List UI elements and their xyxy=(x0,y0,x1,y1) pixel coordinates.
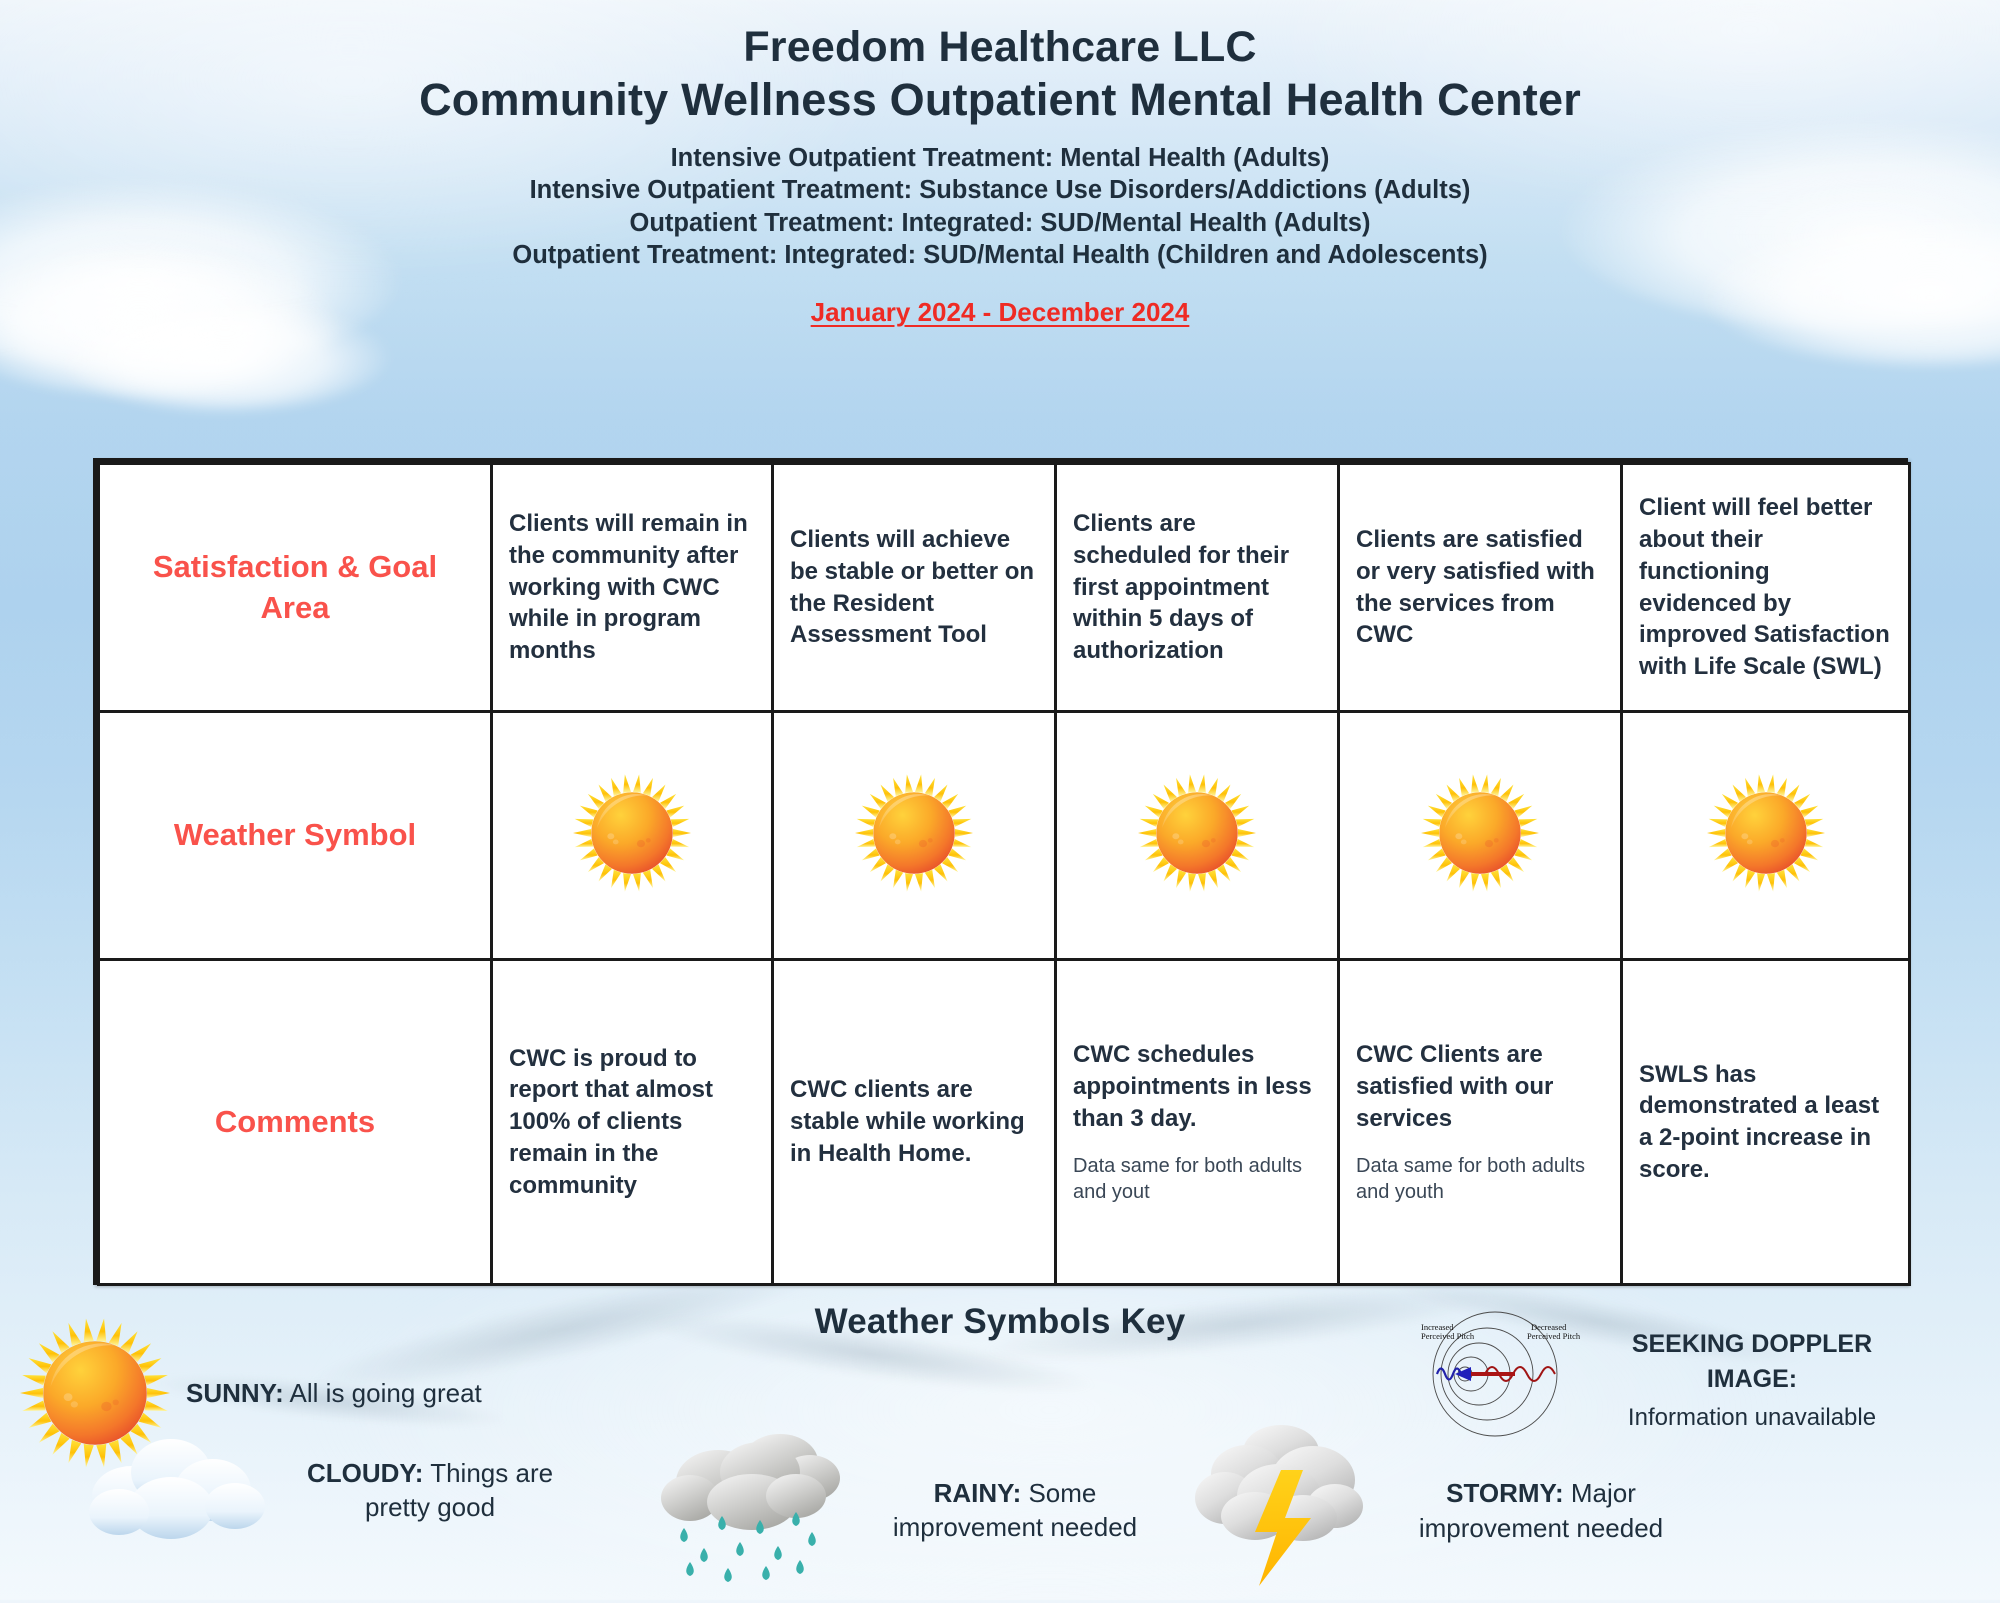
org-name-line1: Freedom Healthcare LLC xyxy=(743,23,1256,71)
sunny-icon xyxy=(1421,774,1539,892)
key-label-text: STORMY: xyxy=(1446,1478,1563,1508)
key-item-rainy: RAINY: Some improvement needed xyxy=(660,1420,1165,1600)
goal-cell-4: Clients are satisfied or very satisfied … xyxy=(1339,464,1622,712)
key-item-cloudy: CLOUDY: Things are pretty good xyxy=(85,1420,580,1560)
sunny-icon xyxy=(1138,774,1256,892)
comment-main: CWC schedules appointments in less than … xyxy=(1073,1041,1312,1131)
row-header-goal-area: Satisfaction & Goal Area xyxy=(99,464,492,712)
comment-cell-3: CWC schedules appointments in less than … xyxy=(1056,960,1339,1285)
comment-cell-1: CWC is proud to report that almost 100% … xyxy=(492,960,773,1285)
comment-sub: Data same for both adults and youth xyxy=(1356,1153,1604,1205)
comment-sub: Data same for both adults and yout xyxy=(1073,1153,1321,1205)
key-label-text: SUNNY: xyxy=(186,1378,284,1408)
symbol-cell-3 xyxy=(1056,712,1339,960)
svg-text:Perceived Pitch: Perceived Pitch xyxy=(1421,1331,1475,1341)
page-header: Freedom Healthcare LLC Community Wellnes… xyxy=(0,0,2000,328)
org-name-line2: Community Wellness Outpatient Mental Hea… xyxy=(0,73,2000,126)
key-desc-text: All is going great xyxy=(290,1378,482,1408)
svg-text:Perceived Pitch: Perceived Pitch xyxy=(1527,1331,1581,1341)
service-line: Intensive Outpatient Treatment: Mental H… xyxy=(0,142,2000,174)
service-line: Intensive Outpatient Treatment: Substanc… xyxy=(0,174,2000,206)
sunny-icon xyxy=(1707,774,1825,892)
key-label-sunny: SUNNY: All is going great xyxy=(186,1376,482,1410)
key-label-doppler: SEEKING DOPPLER IMAGE: Information unava… xyxy=(1587,1326,1917,1434)
sunny-icon xyxy=(855,774,973,892)
services-list: Intensive Outpatient Treatment: Mental H… xyxy=(0,142,2000,272)
symbol-cell-4 xyxy=(1339,712,1622,960)
comment-cell-4: CWC Clients are satisfied with our servi… xyxy=(1339,960,1622,1285)
date-range: January 2024 - December 2024 xyxy=(0,297,2000,328)
goal-cell-1: Clients will remain in the community aft… xyxy=(492,464,773,712)
page-title: Freedom Healthcare LLC Community Wellnes… xyxy=(0,22,2000,126)
goal-cell-2: Clients will achieve be stable or better… xyxy=(773,464,1056,712)
key-item-doppler: Increased Perceived Pitch Decreased Perc… xyxy=(1415,1302,1917,1457)
goal-cell-3: Clients are scheduled for their first ap… xyxy=(1056,464,1339,712)
symbol-cell-1 xyxy=(492,712,773,960)
row-header-comments: Comments xyxy=(99,960,492,1285)
goal-cell-5: Client will feel better about their func… xyxy=(1622,464,1910,712)
service-line: Outpatient Treatment: Integrated: SUD/Me… xyxy=(0,207,2000,239)
comment-main: CWC is proud to report that almost 100% … xyxy=(509,1045,713,1199)
row-header-weather-symbol: Weather Symbol xyxy=(99,712,492,960)
sunny-icon xyxy=(573,774,691,892)
comment-cell-5: SWLS has demonstrated a least a 2-point … xyxy=(1622,960,1910,1285)
key-label-text: CLOUDY: xyxy=(307,1458,424,1488)
key-desc-text: Information unavailable xyxy=(1587,1402,1917,1434)
symbol-cell-5 xyxy=(1622,712,1910,960)
rainy-icon xyxy=(660,1420,855,1600)
service-line: Outpatient Treatment: Integrated: SUD/Me… xyxy=(0,239,2000,271)
doppler-icon: Increased Perceived Pitch Decreased Perc… xyxy=(1415,1302,1583,1457)
table-row-comments: Comments CWC is proud to report that alm… xyxy=(99,960,1910,1285)
comment-main: CWC clients are stable while working in … xyxy=(790,1076,1025,1166)
table-row-weather-symbol: Weather Symbol xyxy=(99,712,1910,960)
comment-main: SWLS has demonstrated a least a 2-point … xyxy=(1639,1061,1879,1183)
key-label-rainy: RAINY: Some improvement needed xyxy=(865,1476,1165,1545)
key-label-cloudy: CLOUDY: Things are pretty good xyxy=(280,1456,580,1525)
stormy-icon xyxy=(1185,1418,1385,1603)
key-label-stormy: STORMY: Major improvement needed xyxy=(1391,1476,1691,1545)
key-label-text: SEEKING DOPPLER IMAGE: xyxy=(1632,1330,1872,1393)
comment-main: CWC Clients are satisfied with our servi… xyxy=(1356,1041,1553,1131)
symbol-cell-2 xyxy=(773,712,1056,960)
comment-cell-2: CWC clients are stable while working in … xyxy=(773,960,1056,1285)
key-label-text: RAINY: xyxy=(934,1478,1022,1508)
table-row-goal-area: Satisfaction & Goal Area Clients will re… xyxy=(99,464,1910,712)
scorecard-table: Satisfaction & Goal Area Clients will re… xyxy=(93,458,1908,1285)
cloudy-icon xyxy=(85,1420,270,1560)
